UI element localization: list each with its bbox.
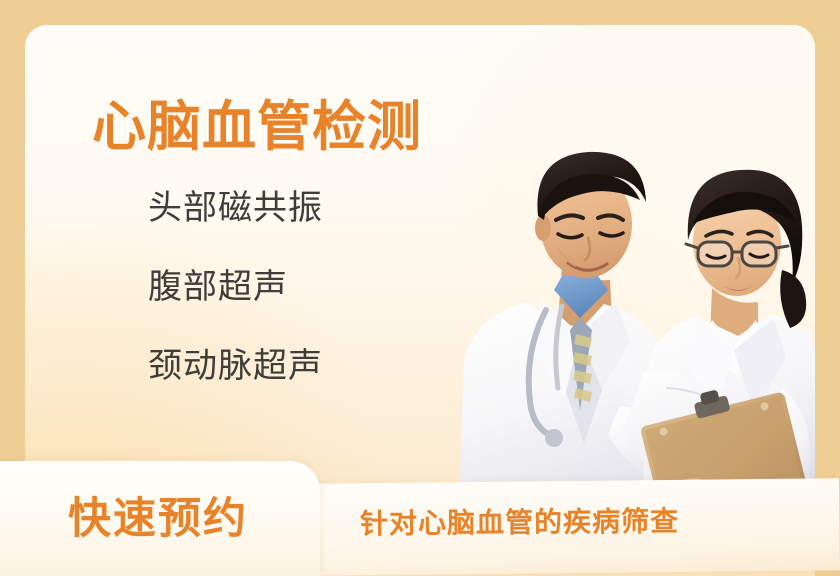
tagline-text: 针对心脑血管的疾病筛查 — [360, 508, 679, 539]
doctors-photo — [430, 120, 815, 520]
banner-card: 心脑血管检测 头部磁共振 腹部超声 颈动脉超声 — [25, 25, 815, 576]
list-item: 腹部超声 — [148, 270, 323, 304]
background-glow-right — [455, 25, 815, 385]
quick-booking-button[interactable]: 快速预约 — [68, 498, 248, 541]
page-title: 心脑血管检测 — [92, 99, 422, 156]
list-item: 颈动脉超声 — [148, 349, 323, 383]
list-item: 头部磁共振 — [148, 191, 323, 225]
promo-banner: 心脑血管检测 头部磁共振 腹部超声 颈动脉超声 快速预约 针对心脑血管的疾病筛查 — [0, 0, 840, 576]
service-list: 头部磁共振 腹部超声 颈动脉超声 — [148, 191, 323, 383]
